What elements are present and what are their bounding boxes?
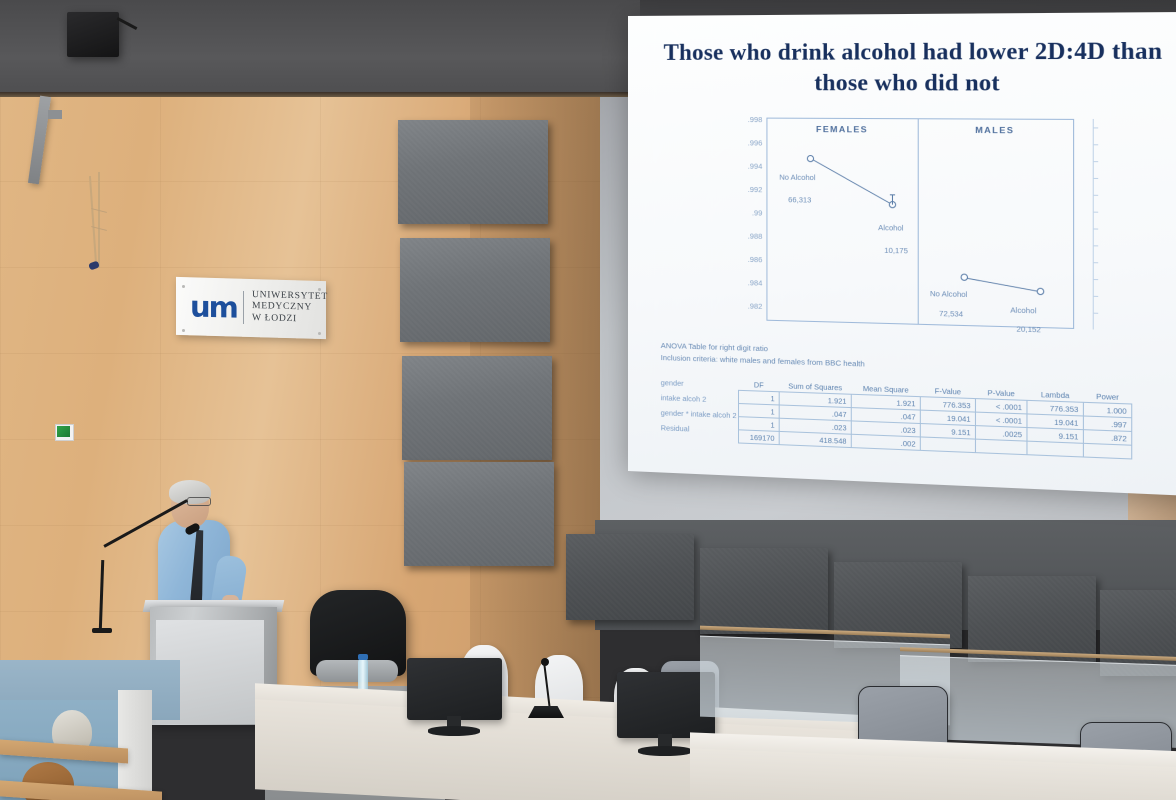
label-females-no-alcohol: No Alcohol (779, 173, 815, 183)
office-chair-seat (316, 660, 398, 682)
cell-r3c1: 418.548 (779, 431, 851, 447)
slide-title-line2: those who did not (628, 68, 1176, 100)
label-males-alcohol: Alcohol (1010, 306, 1036, 316)
lecture-hall-screenshot: Those who drink alcohol had lower 2D:4D … (0, 0, 1176, 800)
anova-caption-line1: ANOVA Table for right digit ratio (661, 341, 768, 353)
glasses-icon (187, 497, 211, 506)
ceiling-wall-joint (0, 92, 640, 97)
monitor-1[interactable] (407, 658, 502, 720)
cell-r3c6 (1083, 443, 1131, 459)
microphone-base (92, 628, 112, 633)
white-column (118, 690, 152, 800)
acoustic-panel-2 (400, 238, 550, 342)
y-tick-1: .996 (748, 138, 763, 147)
slide-surface: Those who drink alcohol had lower 2D:4D … (628, 12, 1176, 497)
anova-row-label-interaction: gender * intake alcoh 2 (661, 408, 737, 420)
anova-row-label-intake: intake alcoh 2 (661, 393, 707, 404)
acoustic-panel-lower-2 (700, 548, 828, 634)
acoustic-panel-lower-1 (566, 534, 694, 620)
y-tick-3: .992 (748, 185, 763, 194)
label-males-no-alcohol: No Alcohol (930, 289, 967, 299)
count-males-no-alcohol: 72,534 (939, 309, 963, 319)
ceiling-speaker-icon (67, 12, 119, 57)
y-tick-5: .988 (748, 232, 763, 241)
water-bottle-cap (358, 654, 368, 660)
wall-hook-rod (98, 172, 100, 268)
errorbar-females-alcohol (892, 195, 893, 205)
acoustic-panel-1 (398, 120, 548, 224)
count-females-no-alcohol: 66,313 (788, 195, 811, 204)
datapoint-males-no-alcohol (960, 274, 967, 281)
anova-row-label-residual: Residual (661, 423, 690, 433)
datapoint-males-alcohol (1037, 288, 1045, 296)
anova-table: DF Sum of Squares Mean Square F-Value P-… (738, 378, 1132, 460)
acoustic-panel-4 (404, 462, 554, 566)
cell-r3c0: 169170 (739, 430, 780, 445)
sign-divider (243, 291, 244, 324)
sign-line-3: W ŁODZI (252, 312, 328, 326)
cell-r3c5 (1027, 441, 1083, 457)
y-tick-0: .998 (748, 115, 763, 124)
acoustic-panel-lower-4 (968, 576, 1096, 662)
plot-area: FEMALES MALES No Alcohol 66,313 A (766, 118, 1074, 329)
y-tick-6: .986 (748, 255, 763, 264)
cell-r3c3 (920, 437, 975, 453)
sign-text: UNIWERSYTET MEDYCZNY W ŁODZI (252, 289, 328, 325)
y-tick-2: .994 (748, 162, 763, 171)
slide-title: Those who drink alcohol had lower 2D:4D … (628, 35, 1176, 100)
errorcap-females-alcohol (890, 195, 895, 196)
series-lines (767, 119, 1073, 328)
anova-caption-line2: Inclusion criteria: white males and fema… (661, 353, 865, 369)
y-tick-4: .99 (752, 208, 762, 217)
anova-row-label-gender: gender (661, 378, 684, 388)
projection-screen: Those who drink alcohol had lower 2D:4D … (628, 12, 1176, 497)
acoustic-panel-3 (402, 356, 552, 460)
datapoint-females-no-alcohol (807, 155, 814, 162)
monitor-2-base (638, 746, 692, 756)
wall-bar-bracket (48, 110, 62, 119)
slide-title-line1: Those who drink alcohol had lower 2D:4D … (664, 38, 1163, 65)
cell-r3c2: .002 (851, 434, 920, 450)
right-axis-spine (1093, 119, 1094, 330)
exit-icon (57, 426, 70, 437)
label-females-alcohol: Alcohol (878, 223, 903, 233)
count-males-alcohol: 20,152 (1017, 324, 1041, 334)
cell-r3c4 (975, 439, 1026, 455)
y-tick-8: .982 (748, 301, 763, 310)
monitor-1-base (428, 726, 480, 736)
um-logo: um (190, 291, 234, 322)
count-females-alcohol: 10,175 (884, 245, 908, 255)
y-tick-7: .984 (748, 278, 763, 287)
interaction-plot: FEMALES MALES No Alcohol 66,313 A (740, 117, 1094, 329)
